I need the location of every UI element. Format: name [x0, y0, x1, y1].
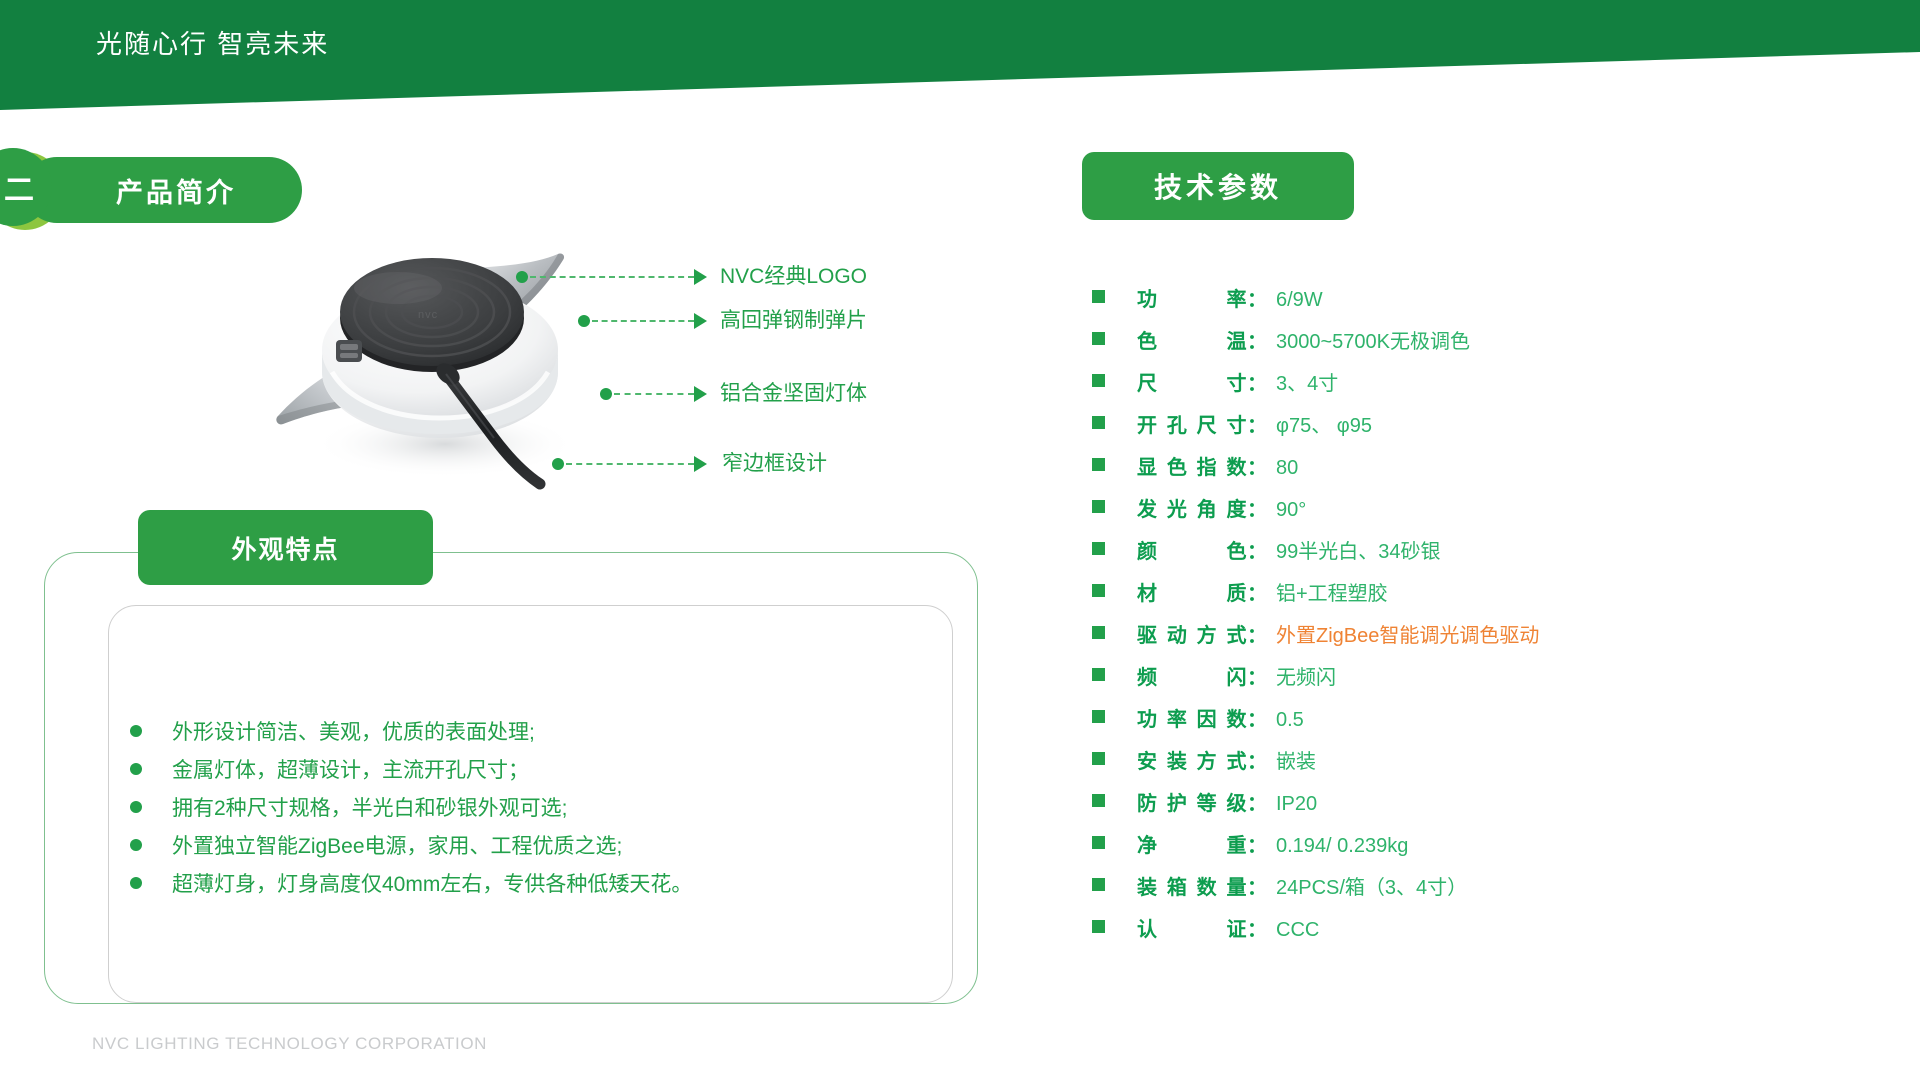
- spec-label: 驱动方式: [1137, 619, 1247, 648]
- spec-value: 嵌装: [1276, 745, 1316, 774]
- spec-value: 80: [1276, 457, 1298, 480]
- spec-label-group: 安装方式：: [1137, 745, 1267, 774]
- callout-arrow-icon: [694, 386, 707, 402]
- spec-bullet-square-icon: [1092, 626, 1105, 639]
- feature-tab: 外观特点: [138, 510, 433, 585]
- spec-colon: ：: [1247, 745, 1267, 774]
- spec-label-group: 驱动方式：: [1137, 619, 1267, 648]
- product-photo: nvc: [240, 222, 660, 552]
- spec-value: 90°: [1276, 499, 1306, 522]
- spec-colon: ：: [1247, 283, 1267, 312]
- spec-bullet-square-icon: [1092, 332, 1105, 345]
- feature-text: 超薄灯身，灯身高度仅40mm左右，专供各种低矮天花。: [172, 868, 692, 898]
- spec-colon: ：: [1247, 913, 1267, 942]
- spec-label: 开孔尺寸: [1137, 409, 1247, 438]
- callout-dot-icon: [600, 388, 612, 400]
- spec-label-group: 颜 色：: [1137, 535, 1267, 564]
- spec-value: 3000~5700K无极调色: [1276, 325, 1470, 354]
- spec-bullet-square-icon: [1092, 290, 1105, 303]
- spec-row: 颜 色：99半光白、34砂银: [1092, 535, 1539, 577]
- slide-page: 光随心行 智亮未来 产品简介 二: [0, 0, 1920, 1080]
- spec-list: 功 率：6/9W色 温：3000~5700K无极调色尺 寸：3、4寸开孔尺寸： …: [1092, 283, 1539, 955]
- spec-row: 装箱数量： 24PCS/箱（3、4寸）: [1092, 871, 1539, 913]
- spec-label-group: 发光角度：: [1137, 493, 1267, 522]
- spec-colon: ：: [1247, 535, 1267, 564]
- spec-label: 显色指数: [1137, 451, 1247, 480]
- spec-bullet-square-icon: [1092, 458, 1105, 471]
- list-item: 超薄灯身，灯身高度仅40mm左右，专供各种低矮天花。: [130, 864, 920, 902]
- spec-label-group: 材 质：: [1137, 577, 1267, 606]
- spec-row: 净 重：0.194/ 0.239kg: [1092, 829, 1539, 871]
- spec-bullet-square-icon: [1092, 836, 1105, 849]
- spec-label-group: 显色指数：: [1137, 451, 1267, 480]
- spec-bullet-square-icon: [1092, 668, 1105, 681]
- section-tab: 产品简介: [24, 157, 302, 223]
- spec-bullet-square-icon: [1092, 584, 1105, 597]
- spec-label-group: 认 证：: [1137, 913, 1267, 942]
- callout-label: 高回弹钢制弹片: [720, 304, 867, 334]
- callout-leader-line: [566, 463, 694, 465]
- spec-value: 99半光白、34砂银: [1276, 535, 1441, 564]
- feature-bullet-list: 外形设计简洁、美观，优质的表面处理; 金属灯体，超薄设计，主流开孔尺寸； 拥有2…: [130, 712, 920, 902]
- spec-label-group: 功率因数：: [1137, 703, 1267, 732]
- feature-text: 外置独立智能ZigBee电源，家用、工程优质之选;: [172, 830, 622, 860]
- spec-label-group: 频 闪：: [1137, 661, 1267, 690]
- spec-bullet-square-icon: [1092, 374, 1105, 387]
- spec-label-group: 防护等级：: [1137, 787, 1267, 816]
- feature-text: 金属灯体，超薄设计，主流开孔尺寸；: [172, 754, 529, 784]
- nvc-logo-emboss: nvc: [418, 309, 438, 321]
- spec-colon: ：: [1247, 787, 1267, 816]
- spec-row: 尺 寸：3、4寸: [1092, 367, 1539, 409]
- bullet-dot-icon: [130, 877, 142, 889]
- bullet-dot-icon: [130, 801, 142, 813]
- spec-row: 驱动方式：外置ZigBee智能调光调色驱动: [1092, 619, 1539, 661]
- spec-bullet-square-icon: [1092, 794, 1105, 807]
- spec-value: 3、4寸: [1276, 367, 1338, 396]
- spec-bullet-square-icon: [1092, 710, 1105, 723]
- spec-colon: ：: [1247, 367, 1267, 396]
- list-item: 金属灯体，超薄设计，主流开孔尺寸；: [130, 750, 920, 788]
- spec-row: 色 温：3000~5700K无极调色: [1092, 325, 1539, 367]
- spec-row: 认 证：CCC: [1092, 913, 1539, 955]
- spec-row: 功 率：6/9W: [1092, 283, 1539, 325]
- spec-label: 尺 寸: [1137, 367, 1247, 396]
- spec-row: 安装方式：嵌装: [1092, 745, 1539, 787]
- list-item: 拥有2种尺寸规格，半光白和砂银外观可选;: [130, 788, 920, 826]
- spec-value: CCC: [1276, 919, 1319, 942]
- spec-label: 装箱数量: [1137, 871, 1247, 900]
- list-item: 外置独立智能ZigBee电源，家用、工程优质之选;: [130, 826, 920, 864]
- callout-dot-icon: [552, 458, 564, 470]
- section-badge-number: 二: [0, 165, 34, 209]
- spec-colon: ：: [1247, 493, 1267, 522]
- spec-tab-title: 技术参数: [1154, 166, 1282, 206]
- spec-colon: ：: [1247, 661, 1267, 690]
- callout-leader-line: [614, 393, 694, 395]
- callout-arrow-icon: [694, 456, 707, 472]
- feature-text: 外形设计简洁、美观，优质的表面处理;: [172, 716, 535, 746]
- spec-value: 无频闪: [1276, 661, 1336, 690]
- list-item: 外形设计简洁、美观，优质的表面处理;: [130, 712, 920, 750]
- callout-label: 铝合金坚固灯体: [720, 377, 867, 407]
- spec-value: 0.194/ 0.239kg: [1276, 835, 1408, 858]
- feature-text: 拥有2种尺寸规格，半光白和砂银外观可选;: [172, 792, 568, 822]
- callout-dot-icon: [516, 271, 528, 283]
- bullet-dot-icon: [130, 839, 142, 851]
- side-connector: [336, 340, 362, 362]
- spec-label-group: 开孔尺寸：: [1137, 409, 1267, 438]
- spec-value: 外置ZigBee智能调光调色驱动: [1276, 619, 1539, 648]
- spec-colon: ：: [1247, 451, 1267, 480]
- callout-dot-icon: [578, 315, 590, 327]
- callout-label: 窄边框设计: [722, 447, 827, 477]
- spec-bullet-square-icon: [1092, 500, 1105, 513]
- spec-bullet-square-icon: [1092, 416, 1105, 429]
- bullet-dot-icon: [130, 725, 142, 737]
- spec-colon: ：: [1247, 325, 1267, 354]
- callout-leader-line: [592, 320, 694, 322]
- header-slogan: 光随心行 智亮未来: [96, 24, 329, 61]
- spec-label: 材 质: [1137, 577, 1247, 606]
- spec-label-group: 色 温：: [1137, 325, 1267, 354]
- spec-row: 功率因数：0.5: [1092, 703, 1539, 745]
- spec-label-group: 功 率：: [1137, 283, 1267, 312]
- spec-value: 6/9W: [1276, 289, 1323, 312]
- spec-label: 认 证: [1137, 913, 1247, 942]
- footer-company: NVC LIGHTING TECHNOLOGY CORPORATION: [92, 1034, 487, 1054]
- feature-tab-title: 外观特点: [231, 530, 339, 566]
- section-title: 产品简介: [116, 171, 236, 210]
- spec-colon: ：: [1247, 577, 1267, 606]
- spec-row: 防护等级：IP20: [1092, 787, 1539, 829]
- spec-bullet-square-icon: [1092, 752, 1105, 765]
- spec-label: 颜 色: [1137, 535, 1247, 564]
- callout-label: NVC经典LOGO: [720, 260, 867, 290]
- callout-arrow-icon: [694, 269, 707, 285]
- spec-row: 开孔尺寸： φ75、 φ95: [1092, 409, 1539, 451]
- spec-colon: ：: [1247, 829, 1267, 858]
- spec-label: 发光角度: [1137, 493, 1247, 522]
- spec-row: 材 质：铝+工程塑胶: [1092, 577, 1539, 619]
- spec-colon: ：: [1247, 619, 1267, 648]
- spec-label-group: 装箱数量：: [1137, 871, 1267, 900]
- spec-row: 发光角度：90°: [1092, 493, 1539, 535]
- spec-value: IP20: [1276, 793, 1317, 816]
- spec-value: φ75、 φ95: [1276, 409, 1372, 438]
- bullet-dot-icon: [130, 763, 142, 775]
- spec-label: 功 率: [1137, 283, 1247, 312]
- spec-tab: 技术参数: [1082, 152, 1354, 220]
- callout-arrow-icon: [694, 313, 707, 329]
- spec-colon: ：: [1247, 703, 1267, 732]
- spec-colon: ：: [1247, 409, 1267, 438]
- spec-row: 频 闪：无频闪: [1092, 661, 1539, 703]
- spec-value: 0.5: [1276, 709, 1304, 732]
- spec-colon: ：: [1247, 871, 1267, 900]
- spec-bullet-square-icon: [1092, 878, 1105, 891]
- spec-label: 功率因数: [1137, 703, 1247, 732]
- spec-bullet-square-icon: [1092, 920, 1105, 933]
- spec-label-group: 净 重：: [1137, 829, 1267, 858]
- spec-label: 色 温: [1137, 325, 1247, 354]
- spec-value: 铝+工程塑胶: [1276, 577, 1388, 606]
- spec-label-group: 尺 寸：: [1137, 367, 1267, 396]
- callout-leader-line: [530, 276, 694, 278]
- spec-label: 防护等级: [1137, 787, 1247, 816]
- spec-row: 显色指数：80: [1092, 451, 1539, 493]
- spec-value: 24PCS/箱（3、4寸）: [1276, 871, 1467, 900]
- spec-bullet-square-icon: [1092, 542, 1105, 555]
- spec-label: 安装方式: [1137, 745, 1247, 774]
- spec-label: 净 重: [1137, 829, 1247, 858]
- spec-label: 频 闪: [1137, 661, 1247, 690]
